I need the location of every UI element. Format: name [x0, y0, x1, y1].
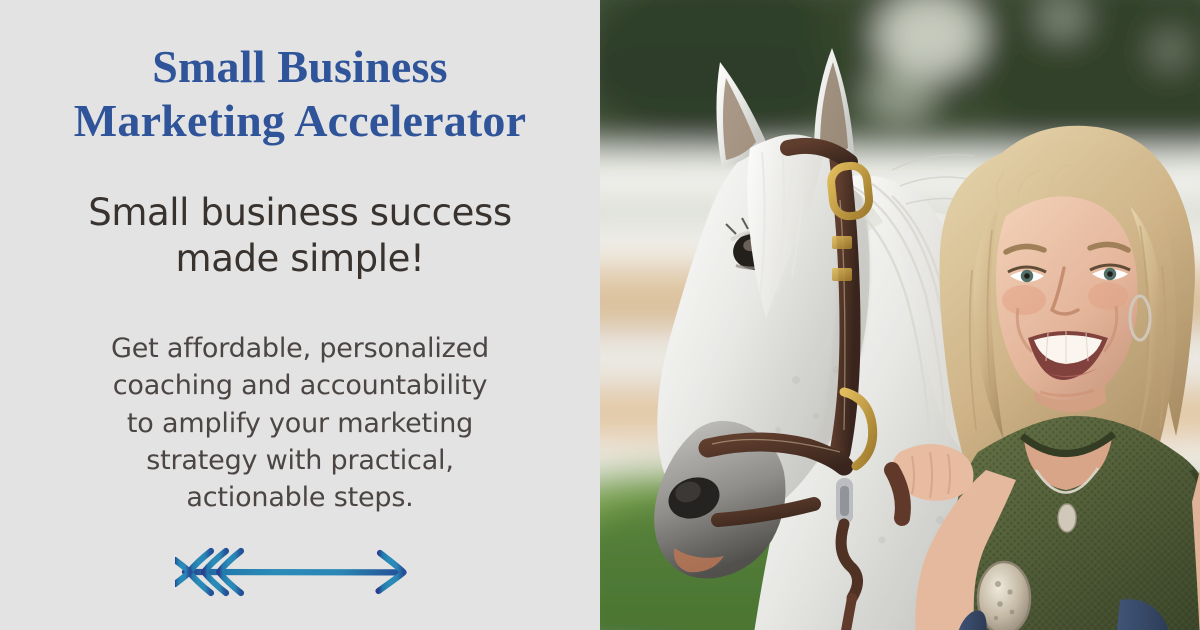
body-line-2: coaching and accountability — [113, 370, 488, 401]
subheadline-line-1: Small business success — [88, 191, 511, 234]
subheadline: Small business success made simple! — [50, 148, 550, 283]
body-line-4: strategy with practical, — [146, 445, 453, 476]
subheadline-line-2: made simple! — [176, 237, 425, 280]
body-line-3: to amplify your marketing — [127, 408, 473, 439]
body-line-5: actionable steps. — [186, 482, 413, 513]
arrow-right-icon — [175, 542, 425, 602]
marketing-banner: Small Business Marketing Accelerator Sma… — [0, 0, 1200, 630]
body-line-1: Get affordable, personalized — [111, 333, 489, 364]
hero-photo — [600, 0, 1200, 630]
body-copy: Get affordable, personalized coaching an… — [60, 282, 540, 516]
headline-line-1: Small Business — [152, 41, 448, 92]
left-text-panel: Small Business Marketing Accelerator Sma… — [0, 0, 600, 630]
page-title: Small Business Marketing Accelerator — [50, 0, 550, 148]
headline-line-2: Marketing Accelerator — [74, 95, 527, 146]
